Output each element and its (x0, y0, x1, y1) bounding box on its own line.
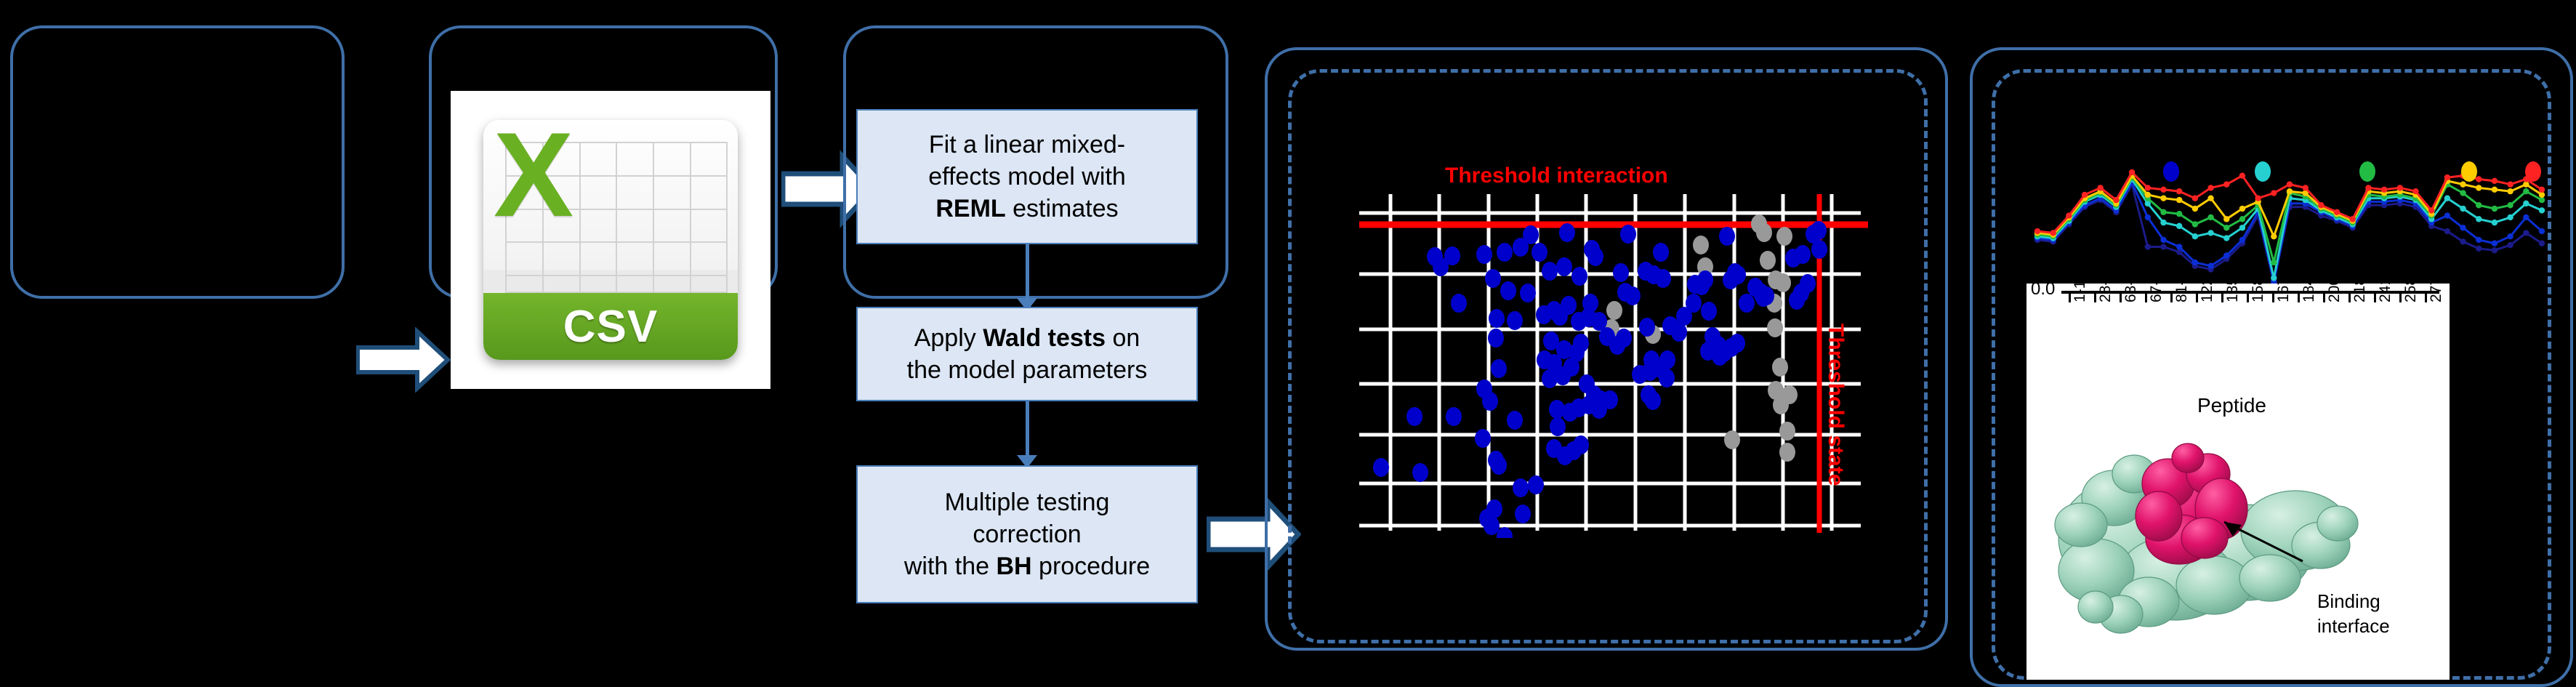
peptide-tick-label: 241-257 (2377, 284, 2394, 302)
legend-marker (2163, 161, 2179, 182)
uptake-data-point (2460, 190, 2466, 196)
uptake-data-point (2492, 241, 2497, 246)
box-fit-model: Fit a linear mixed- effects model with R… (856, 109, 1198, 244)
csv-band: CSV (483, 293, 738, 360)
peptide-tick-mark (2170, 292, 2173, 302)
uptake-data-point (2539, 207, 2545, 213)
uptake-data-point (2239, 237, 2245, 243)
uptake-legend (2032, 158, 2548, 188)
threshold-state-label: Threshold state (1823, 324, 1848, 486)
uptake-data-point (2444, 228, 2450, 234)
box-wald-tests: Apply Wald tests on the model parameters (856, 307, 1198, 401)
uptake-data-point (2176, 188, 2182, 194)
uptake-data-point (2334, 209, 2340, 215)
uptake-data-point (2176, 244, 2182, 249)
uptake-data-point (2507, 233, 2513, 239)
peptide-tick-label: 28-44 (2097, 284, 2114, 302)
connector-1 (1026, 244, 1029, 304)
panel-input (10, 25, 345, 299)
uptake-data-point (2539, 197, 2545, 203)
peptide-tick-label: 200-214 (2326, 284, 2343, 302)
uptake-data-point (2050, 230, 2056, 236)
peptide-tick-label: 277-284 (2428, 284, 2445, 302)
peptide-tick-mark (2348, 292, 2351, 302)
threshold-interaction-label: Threshold interaction (1445, 164, 1668, 188)
uptake-data-point (2207, 214, 2213, 220)
peptide-tick-label: 122-129 (2199, 284, 2216, 302)
uptake-data-point (2271, 190, 2277, 196)
uptake-data-point (2207, 196, 2213, 201)
peptide-tick-mark (2069, 292, 2071, 302)
uptake-data-point (2507, 202, 2513, 208)
uptake-data-point (2113, 197, 2119, 203)
uptake-data-point (2207, 230, 2213, 236)
uptake-data-point (2476, 246, 2482, 252)
uptake-data-point (2160, 209, 2166, 215)
peptide-tick-mark (2425, 292, 2427, 302)
peptide-tick-label: 158-166 (2250, 284, 2267, 302)
peptide-tick-mark (2272, 292, 2274, 302)
uptake-data-point (2207, 263, 2213, 269)
uptake-data-point (2034, 228, 2040, 234)
uptake-data-point (2160, 237, 2166, 243)
peptide-tick-label: 167-180 (2275, 284, 2293, 302)
peptide-tick-mark (2399, 292, 2402, 302)
legend-marker (2461, 161, 2477, 182)
uptake-data-point (2523, 188, 2529, 194)
uptake-data-point (2523, 201, 2529, 206)
uptake-data-point (2507, 242, 2513, 248)
arrow-entry-icon (356, 327, 451, 393)
peptide-tick-label: 218-237 (2351, 284, 2369, 302)
peptide-tick-label: 135-144 (2224, 284, 2242, 302)
uptake-data-point (2192, 196, 2198, 201)
binding-interface-label: Binding interface (2317, 589, 2390, 638)
uptake-data-point (2523, 230, 2529, 236)
uptake-data-point (2476, 237, 2482, 243)
uptake-data-point (2287, 188, 2293, 194)
peptide-tick-group: 1-1528-4463-7367-7581-101122-129135-1441… (2026, 284, 2450, 393)
peptide-tick-mark (2120, 292, 2122, 302)
peptide-tick-label: 184-199 (2301, 284, 2318, 302)
box-multiple-testing: Multiple testing correction with the BH … (856, 465, 1198, 603)
uptake-data-point (2160, 244, 2166, 249)
peptide-tick-mark (2298, 292, 2300, 302)
uptake-data-point (2176, 223, 2182, 229)
uptake-data-point (2255, 196, 2261, 201)
uptake-data-point (2539, 228, 2545, 234)
uptake-data-point (2223, 216, 2229, 222)
uptake-data-point (2350, 216, 2356, 222)
uptake-data-point (2460, 206, 2466, 212)
connector-2 (1026, 401, 1029, 461)
uptake-data-point (2271, 233, 2277, 239)
uptake-data-point (2192, 233, 2198, 239)
uptake-data-point (2223, 225, 2229, 230)
peptide-tick-mark (2323, 292, 2325, 302)
uptake-data-point (2492, 206, 2497, 212)
uptake-data-point (2476, 216, 2482, 222)
uptake-data-point (2492, 247, 2497, 253)
uptake-data-point (2444, 212, 2450, 218)
csv-card: X CSV (451, 91, 770, 389)
uptake-data-point (2066, 212, 2072, 218)
peptide-tick-mark (2145, 292, 2147, 302)
scatter-plot: Threshold interaction Threshold state (1359, 142, 1883, 538)
csv-label: CSV (563, 301, 658, 353)
uptake-data-point (2239, 216, 2245, 222)
uptake-data-point (2239, 206, 2245, 212)
uptake-data-point (2412, 188, 2418, 194)
uptake-data-point (2523, 214, 2529, 220)
uptake-data-point (2145, 244, 2151, 249)
uptake-data-point (2507, 188, 2513, 194)
uptake-data-point (2160, 220, 2166, 225)
peptide-tick-mark (2247, 292, 2249, 302)
peptide-tick-label: 67-75 (2148, 284, 2165, 302)
uptake-data-point (2223, 252, 2229, 258)
uptake-data-point (2460, 225, 2466, 230)
uptake-data-point (2223, 235, 2229, 241)
uptake-data-point (2539, 241, 2545, 246)
peptide-tick-label: 258-266 (2402, 284, 2420, 302)
uptake-data-point (2271, 275, 2277, 281)
peptide-axis-card: 0.0 1-1528-4463-7367-7581-101122-129135-… (2026, 284, 2450, 680)
uptake-data-point (2460, 238, 2466, 244)
uptake-data-point (2444, 196, 2450, 201)
uptake-data-point (2192, 260, 2198, 265)
scatter-svg (1359, 142, 1883, 538)
peptide-tick-label: 81-101 (2173, 284, 2191, 302)
peptide-tick-mark (2196, 292, 2198, 302)
uptake-data-point (2318, 202, 2324, 208)
uptake-data-point (2145, 192, 2151, 198)
peptide-tick-label: 63-73 (2122, 284, 2140, 302)
legend-svg (2032, 158, 2548, 188)
peptide-tick-mark (2221, 292, 2223, 302)
uptake-data-point (2192, 221, 2198, 227)
x-axis-title: Peptide (2197, 394, 2266, 417)
legend-marker (2359, 161, 2375, 182)
peptide-tick-label: 1-15 (2072, 284, 2089, 302)
uptake-data-point (2176, 211, 2182, 217)
peptide-tick-mark (2374, 292, 2376, 302)
uptake-data-point (2507, 214, 2513, 220)
uptake-data-point (2082, 192, 2088, 198)
uptake-data-point (2239, 225, 2245, 230)
uptake-data-point (2539, 192, 2545, 198)
legend-marker (2255, 161, 2271, 182)
legend-marker (2525, 161, 2541, 182)
peptide-tick-mark (2094, 292, 2096, 302)
uptake-data-point (2145, 214, 2151, 220)
uptake-data-point (2476, 202, 2482, 208)
uptake-data-point (2176, 197, 2182, 203)
uptake-data-point (2428, 207, 2434, 213)
uptake-data-point (2492, 220, 2497, 225)
uptake-data-point (2192, 206, 2198, 212)
uptake-data-point (2271, 260, 2277, 265)
csv-file-icon: X CSV (483, 120, 738, 360)
uptake-data-point (2160, 196, 2166, 201)
csv-x-letter: X (494, 120, 573, 229)
